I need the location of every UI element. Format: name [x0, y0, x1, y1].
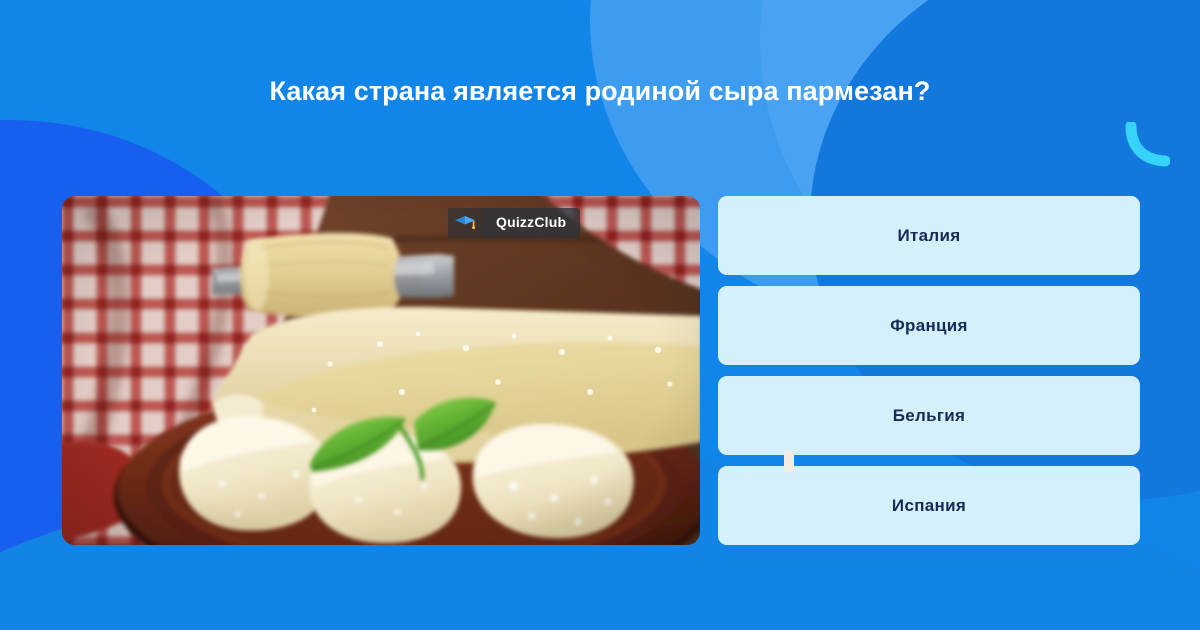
answer-option-4[interactable]: Испания	[718, 466, 1140, 545]
page-title: Какая страна является родиной сыра парме…	[0, 74, 1200, 108]
answer-option-3[interactable]: Бельгия	[718, 376, 1140, 455]
answer-option-label: Бельгия	[893, 406, 965, 426]
answer-option-label: Италия	[898, 226, 961, 246]
answer-option-1[interactable]: Италия	[718, 196, 1140, 275]
cursor-marker	[784, 450, 794, 473]
answer-options: Италия Франция Бельгия Испания	[718, 196, 1140, 545]
watermark-label: QuizzClub	[482, 208, 580, 238]
watermark: QuizzClub	[448, 208, 580, 238]
answer-option-2[interactable]: Франция	[718, 286, 1140, 365]
arc-decor-icon	[1124, 122, 1170, 168]
answer-option-label: Франция	[890, 316, 968, 336]
answer-option-label: Испания	[892, 496, 966, 516]
parmesan-cheese-illustration	[62, 196, 700, 545]
quiz-card: Какая страна является родиной сыра парме…	[0, 0, 1200, 630]
question-image	[62, 196, 700, 545]
graduation-cap-icon	[448, 208, 482, 238]
